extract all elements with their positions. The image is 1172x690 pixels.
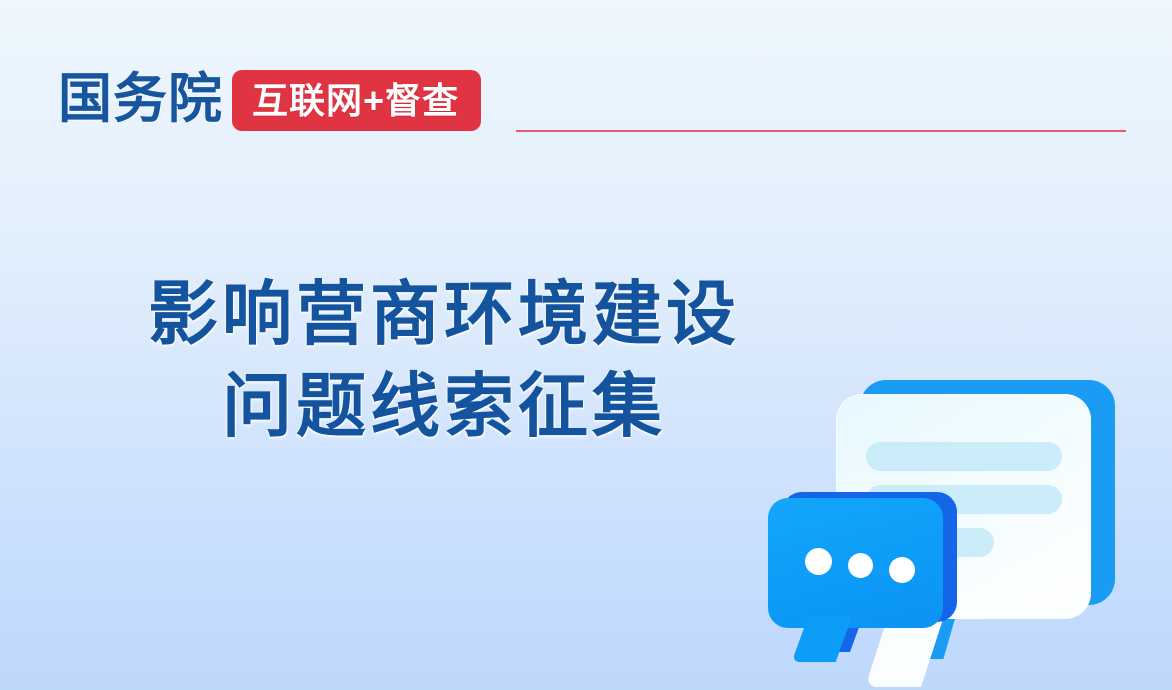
promo-banner: 国务院 互联网+督查 影响营商环境建设 问题线索征集: [0, 0, 1172, 690]
page-title-line-1: 影响营商环境建设: [108, 268, 780, 360]
page-title-line-2: 问题线索征集: [108, 360, 780, 452]
page-title: 影响营商环境建设 问题线索征集: [108, 268, 780, 452]
organization-name: 国务院: [58, 68, 223, 130]
speech-bubbles-illustration: [744, 352, 1164, 690]
typing-dot-2: [848, 553, 873, 578]
program-badge-label: 互联网+督查: [252, 81, 459, 121]
header-divider-rule: [516, 130, 1126, 132]
content-bar-1: [866, 442, 1062, 471]
typing-dot-1: [805, 548, 832, 575]
typing-dot-3: [889, 557, 915, 583]
program-badge: 互联网+督查: [232, 70, 481, 131]
banner-header: 国务院 互联网+督查: [0, 0, 1172, 150]
